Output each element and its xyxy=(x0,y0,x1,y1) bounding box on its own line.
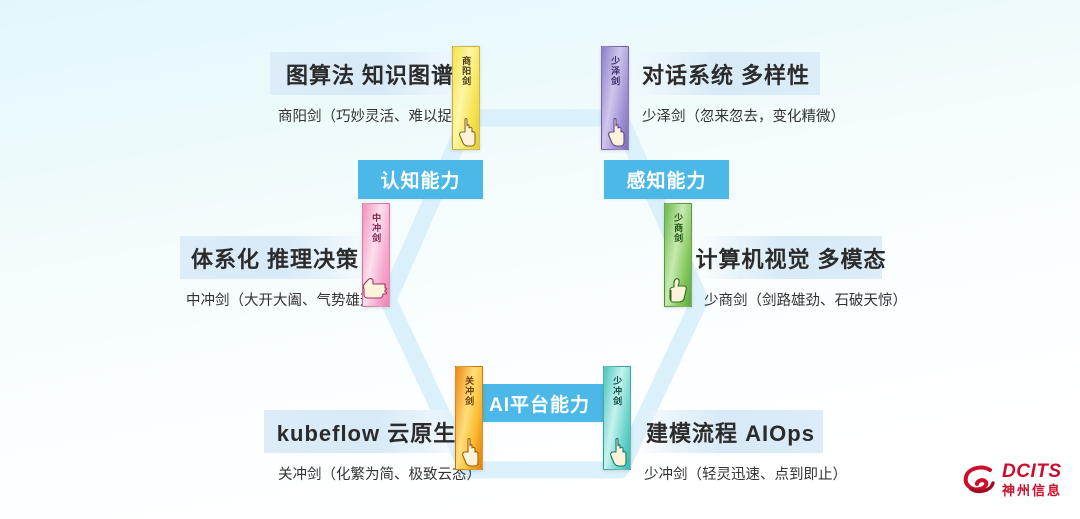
thumbs-up-icon xyxy=(665,274,691,304)
pointing-finger-icon xyxy=(604,437,630,467)
sword-shaochong[interactable]: 少冲剑 xyxy=(603,366,631,470)
node-knowledge-graph-title: 图算法 知识图谱 xyxy=(270,52,470,95)
chip-platform[interactable]: AI平台能力 xyxy=(473,384,606,422)
node-reasoning-decision-title: 体系化 推理决策 xyxy=(180,236,370,279)
chip-cognitive[interactable]: 认知能力 xyxy=(358,160,483,199)
node-kubeflow-cloud-native-subtitle: 关冲剑（化繁为简、极致云态） xyxy=(278,463,481,484)
dcits-logo-cn: 神州信息 xyxy=(1002,484,1062,497)
chip-platform-label: AI平台能力 xyxy=(489,390,590,417)
node-dialogue-system[interactable]: 对话系统 多样性 少泽剑（忽来忽去，变化精微） xyxy=(632,52,845,126)
hexagon-connector xyxy=(0,0,1080,519)
sword-zhongchong-label: 中冲剑 xyxy=(371,213,381,243)
sword-shaoshang-label: 少商剑 xyxy=(673,213,683,243)
chip-cognitive-label: 认知能力 xyxy=(380,166,460,193)
sword-shaoze[interactable]: 少泽剑 xyxy=(601,46,629,150)
dcits-logo: DCITS 神州信息 xyxy=(962,462,1062,497)
pointing-finger-icon xyxy=(453,117,479,147)
pointing-finger-icon xyxy=(456,437,482,467)
sword-guanchong-label: 关冲剑 xyxy=(464,376,474,406)
node-reasoning-decision[interactable]: 体系化 推理决策 中冲剑（大开大阖、气势雄迈） xyxy=(180,236,389,310)
node-modeling-aiops[interactable]: 建模流程 AIOps 少冲剑（轻灵迅速、点到即止） xyxy=(638,410,847,484)
node-modeling-aiops-subtitle: 少冲剑（轻灵迅速、点到即止） xyxy=(644,463,847,484)
sword-shaoshang[interactable]: 少商剑 xyxy=(664,203,692,307)
node-kubeflow-cloud-native-title: kubeflow 云原生 xyxy=(264,410,469,453)
node-computer-vision[interactable]: 计算机视觉 多模态 少商剑（剑路雄劲、石破天惊） xyxy=(700,236,907,310)
chip-perceptive-label: 感知能力 xyxy=(626,166,706,193)
infographic-canvas: 认知能力 感知能力 AI平台能力 图算法 知识图谱 商阳剑（巧妙灵活、难以捉摸）… xyxy=(0,0,1080,519)
sword-shaochong-label: 少冲剑 xyxy=(612,376,622,406)
chip-perceptive[interactable]: 感知能力 xyxy=(604,160,729,199)
node-knowledge-graph-subtitle: 商阳剑（巧妙灵活、难以捉摸） xyxy=(278,105,481,126)
sword-shaoze-label: 少泽剑 xyxy=(610,56,620,86)
pointing-finger-icon xyxy=(363,274,389,304)
node-knowledge-graph[interactable]: 图算法 知识图谱 商阳剑（巧妙灵活、难以捉摸） xyxy=(270,52,481,126)
dcits-swirl-icon xyxy=(962,463,996,497)
sword-shangyang-label: 商阳剑 xyxy=(461,56,471,86)
node-dialogue-system-subtitle: 少泽剑（忽来忽去，变化精微） xyxy=(642,105,845,126)
sword-shangyang[interactable]: 商阳剑 xyxy=(452,46,480,150)
node-dialogue-system-title: 对话系统 多样性 xyxy=(632,52,820,95)
node-computer-vision-title: 计算机视觉 多模态 xyxy=(700,236,882,279)
sword-guanchong[interactable]: 关冲剑 xyxy=(455,366,483,470)
pointing-finger-icon xyxy=(602,117,628,147)
node-kubeflow-cloud-native[interactable]: kubeflow 云原生 关冲剑（化繁为简、极致云态） xyxy=(264,410,481,484)
node-computer-vision-subtitle: 少商剑（剑路雄劲、石破天惊） xyxy=(704,289,907,310)
sword-zhongchong[interactable]: 中冲剑 xyxy=(362,203,390,307)
node-modeling-aiops-title: 建模流程 AIOps xyxy=(638,410,823,453)
dcits-logo-en: DCITS xyxy=(1002,462,1062,481)
node-reasoning-decision-subtitle: 中冲剑（大开大阖、气势雄迈） xyxy=(186,289,389,310)
